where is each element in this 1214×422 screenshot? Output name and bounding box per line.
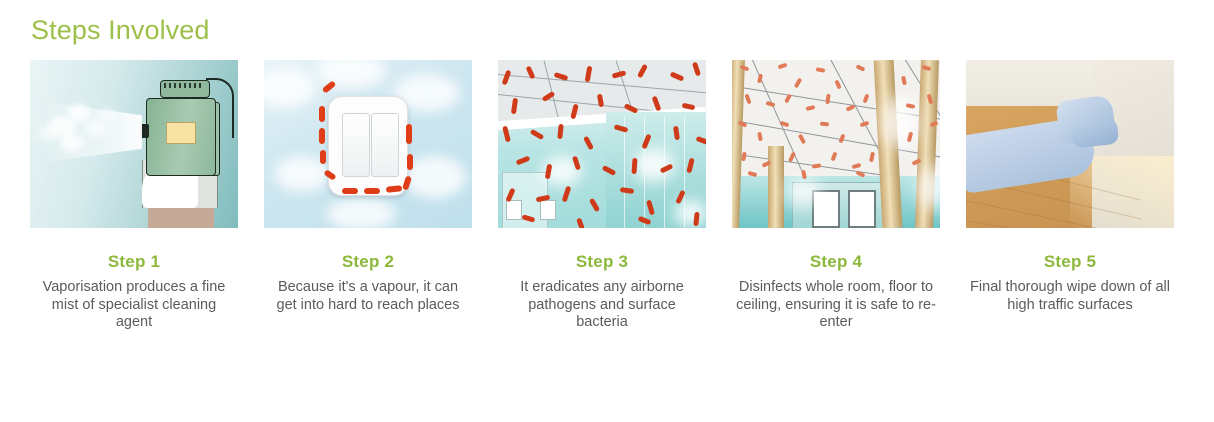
germ-rod: [322, 80, 337, 93]
germ-rod: [406, 124, 412, 144]
step-image-2: [264, 60, 472, 228]
step-card-1[interactable]: Step 1 Vaporisation produces a fine mist…: [30, 60, 238, 332]
light-glow: [786, 178, 820, 206]
steps-involved-section: Steps Involved: [0, 0, 1214, 422]
step-caption: Because it's a vapour, it can get into h…: [264, 279, 472, 314]
germ-rod: [342, 188, 358, 194]
power-socket: [540, 200, 556, 220]
step-label: Step 3: [498, 252, 706, 272]
light-glow: [918, 166, 940, 210]
step-image-5: [966, 60, 1174, 228]
mist-puff: [38, 126, 56, 141]
germ-rod: [583, 136, 594, 151]
germ-rod: [562, 186, 572, 203]
vapour-cloud: [264, 68, 316, 108]
wall-strip: [624, 116, 625, 228]
machine-power-cord: [206, 78, 234, 138]
step-card-3[interactable]: Step 3 It eradicates any airborne pathog…: [498, 60, 706, 332]
step-label: Step 5: [966, 252, 1174, 272]
germ-rod: [320, 150, 326, 164]
mist-puff: [86, 120, 106, 136]
germ-rod: [576, 218, 585, 228]
step-label: Step 4: [732, 252, 940, 272]
power-socket: [506, 200, 522, 220]
step-label: Step 2: [264, 252, 472, 272]
step-caption: Disinfects whole room, floor to ceiling,…: [732, 279, 940, 332]
germ-rod: [530, 129, 545, 140]
germ-rod: [589, 198, 600, 213]
step-caption: Vaporisation produces a fine mist of spe…: [30, 279, 238, 332]
step-caption: Final thorough wipe down of all high tra…: [966, 279, 1174, 314]
step-image-1: [30, 60, 238, 228]
germ-rod: [407, 154, 413, 170]
mist-puff: [60, 134, 84, 152]
step-image-3: [498, 60, 706, 228]
germ-rod: [319, 106, 325, 122]
steps-row: Step 1 Vaporisation produces a fine mist…: [30, 60, 1180, 332]
column: [768, 146, 784, 228]
germ-rod: [557, 124, 564, 139]
framed-picture: [848, 190, 876, 228]
step-label: Step 1: [30, 252, 238, 272]
switch-rocker-left: [342, 113, 370, 177]
machine-control-panel: [166, 122, 196, 144]
germ-rod: [820, 122, 829, 127]
cleaning-cloth-fold: [1071, 118, 1119, 149]
step-card-5[interactable]: Step 5 Final thorough wipe down of all h…: [966, 60, 1174, 332]
step-card-4[interactable]: Step 4 Disinfects whole room, floor to c…: [732, 60, 940, 332]
machine-grip: [164, 83, 202, 88]
mist-puff: [68, 104, 90, 122]
germ-rod: [364, 188, 380, 194]
step-card-2[interactable]: Step 2 Because it's a vapour, it can get…: [264, 60, 472, 332]
germ-rod: [516, 156, 531, 166]
step-image-4: [732, 60, 940, 228]
light-switch-plate: [328, 96, 408, 196]
vapour-cloud: [326, 198, 396, 228]
step-caption: It eradicates any airborne pathogens and…: [498, 279, 706, 332]
vapour-cloud: [404, 156, 466, 198]
machine-base: [148, 206, 214, 228]
germ-rod: [319, 128, 325, 144]
switch-rocker-right: [371, 113, 399, 177]
mist-puff: [100, 108, 116, 121]
page-title: Steps Involved: [31, 13, 210, 47]
